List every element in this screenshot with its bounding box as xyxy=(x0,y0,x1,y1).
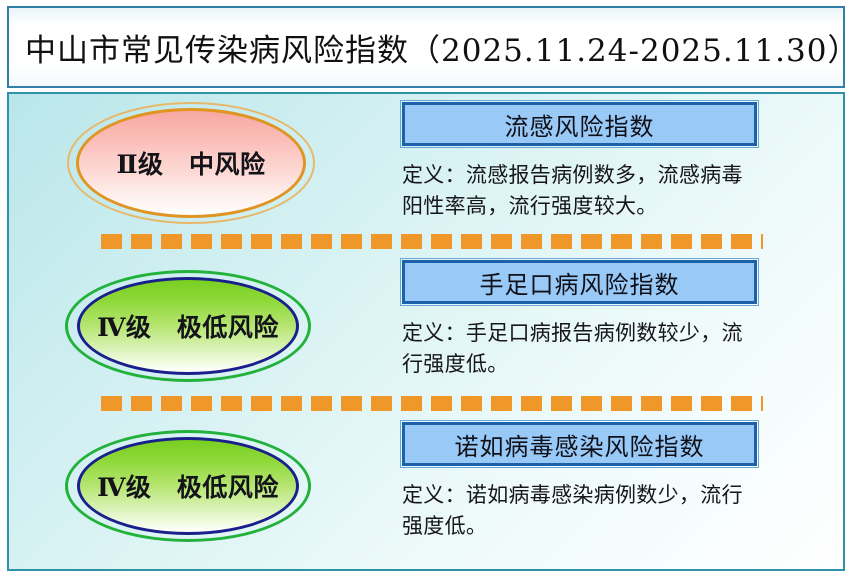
content-panel: Ⅱ级 中风险 Ⅳ级 极低风险 Ⅳ级 极低风险 流感风险指数 定义：流感报告病例数… xyxy=(7,92,845,571)
card-definition: 定义：流感报告病例数多，流感病毒阳性率高，流行强度较大。 xyxy=(402,160,760,222)
card-influenza: 流感风险指数 定义：流感报告病例数多，流感病毒阳性率高，流行强度较大。 xyxy=(402,102,757,222)
risk-badge-label: Ⅳ级 极低风险 xyxy=(97,308,279,344)
dashed-divider-2 xyxy=(101,396,763,411)
title-bar: 中山市常见传染病风险指数（2025.11.24-2025.11.30） xyxy=(7,6,845,88)
risk-badge-hfmd: Ⅳ级 极低风险 xyxy=(65,270,311,382)
risk-badge-norovirus: Ⅳ级 极低风险 xyxy=(65,430,311,542)
card-title: 手足口病风险指数 xyxy=(480,265,680,300)
card-header-norovirus: 诺如病毒感染风险指数 xyxy=(402,422,757,466)
dashed-divider-1 xyxy=(101,234,763,249)
card-definition: 定义：手足口病报告病例数较少，流行强度低。 xyxy=(402,318,760,380)
card-title: 流感风险指数 xyxy=(505,107,655,142)
risk-index-poster: 中山市常见传染病风险指数（2025.11.24-2025.11.30） Ⅱ级 中… xyxy=(0,0,851,577)
card-definition: 定义：诺如病毒感染病例数少，流行强度低。 xyxy=(402,480,760,542)
risk-badge-label: Ⅱ级 中风险 xyxy=(116,145,265,181)
card-hfmd: 手足口病风险指数 定义：手足口病报告病例数较少，流行强度低。 xyxy=(402,260,757,380)
card-title: 诺如病毒感染风险指数 xyxy=(455,427,705,462)
card-norovirus: 诺如病毒感染风险指数 定义：诺如病毒感染病例数少，流行强度低。 xyxy=(402,422,757,542)
page-title: 中山市常见传染病风险指数（2025.11.24-2025.11.30） xyxy=(9,25,851,70)
card-header-hfmd: 手足口病风险指数 xyxy=(402,260,757,304)
risk-badge-label: Ⅳ级 极低风险 xyxy=(97,468,279,504)
risk-badge-influenza: Ⅱ级 中风险 xyxy=(67,102,315,224)
card-header-influenza: 流感风险指数 xyxy=(402,102,757,146)
